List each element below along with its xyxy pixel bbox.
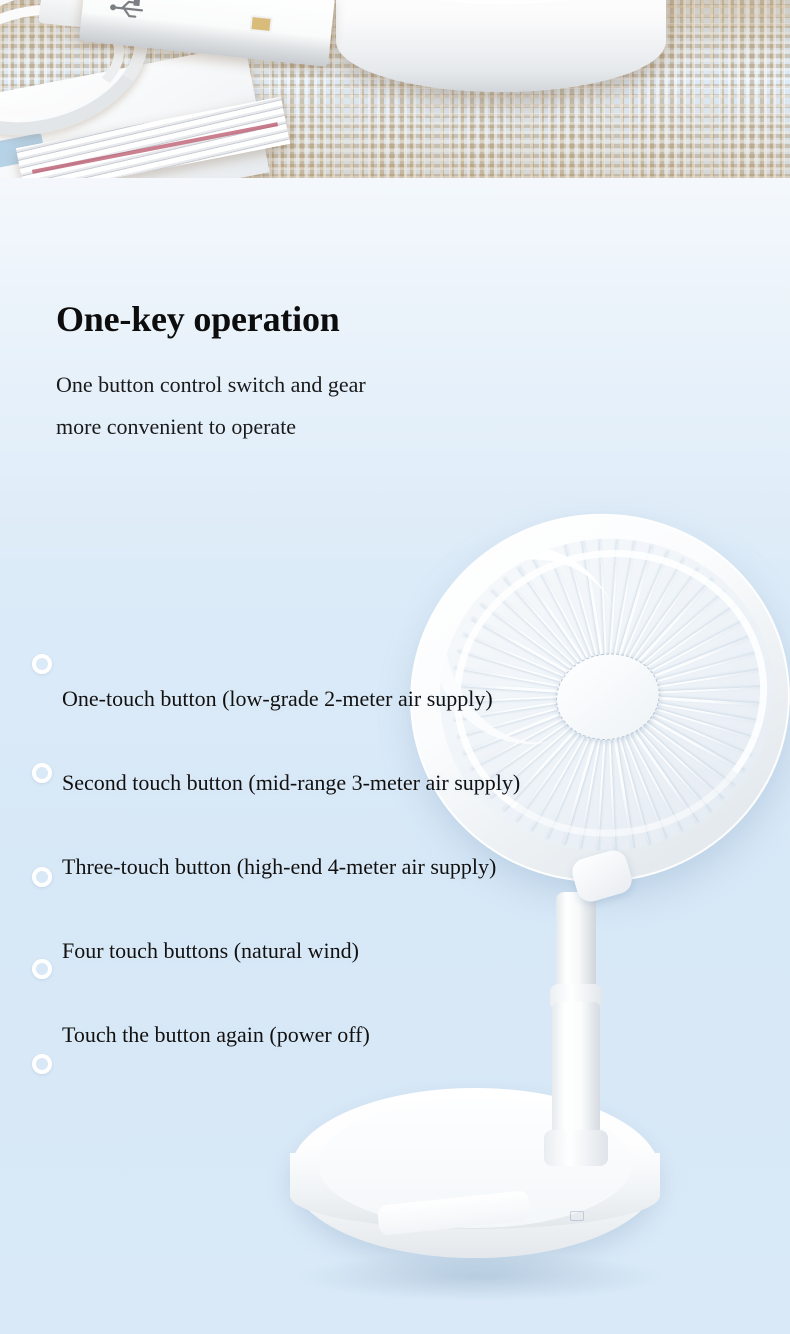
lifestyle-photo-banner: [0, 0, 790, 178]
bullet-marker-4: [32, 959, 52, 979]
feature-item-1: One-touch button (low-grade 2-meter air …: [62, 686, 493, 712]
feature-panel: One-key operation One button control swi…: [0, 178, 790, 1334]
feature-item-4: Four touch buttons (natural wind): [62, 938, 359, 964]
feature-item-3: Three-touch button (high-end 4-meter air…: [62, 854, 496, 880]
stem-lower-segment: [552, 1002, 600, 1150]
bullet-marker-5: [32, 1054, 52, 1074]
feature-item-5: Touch the button again (power off): [62, 1022, 370, 1048]
usb-contact-chip: [249, 15, 273, 33]
base-drop-shadow: [300, 1253, 660, 1301]
fan-illustration: [0, 178, 790, 1334]
fan-base-marking: [570, 1211, 584, 1221]
bullet-marker-3: [32, 867, 52, 887]
usb-trident-icon: [107, 0, 151, 24]
feature-item-2: Second touch button (mid-range 3-meter a…: [62, 770, 520, 796]
stem-upper-segment: [556, 892, 596, 996]
product-feature-page: One-key operation One button control swi…: [0, 0, 790, 1334]
stem-foot: [544, 1130, 608, 1166]
bullet-marker-2: [32, 763, 52, 783]
bullet-marker-1: [32, 654, 52, 674]
